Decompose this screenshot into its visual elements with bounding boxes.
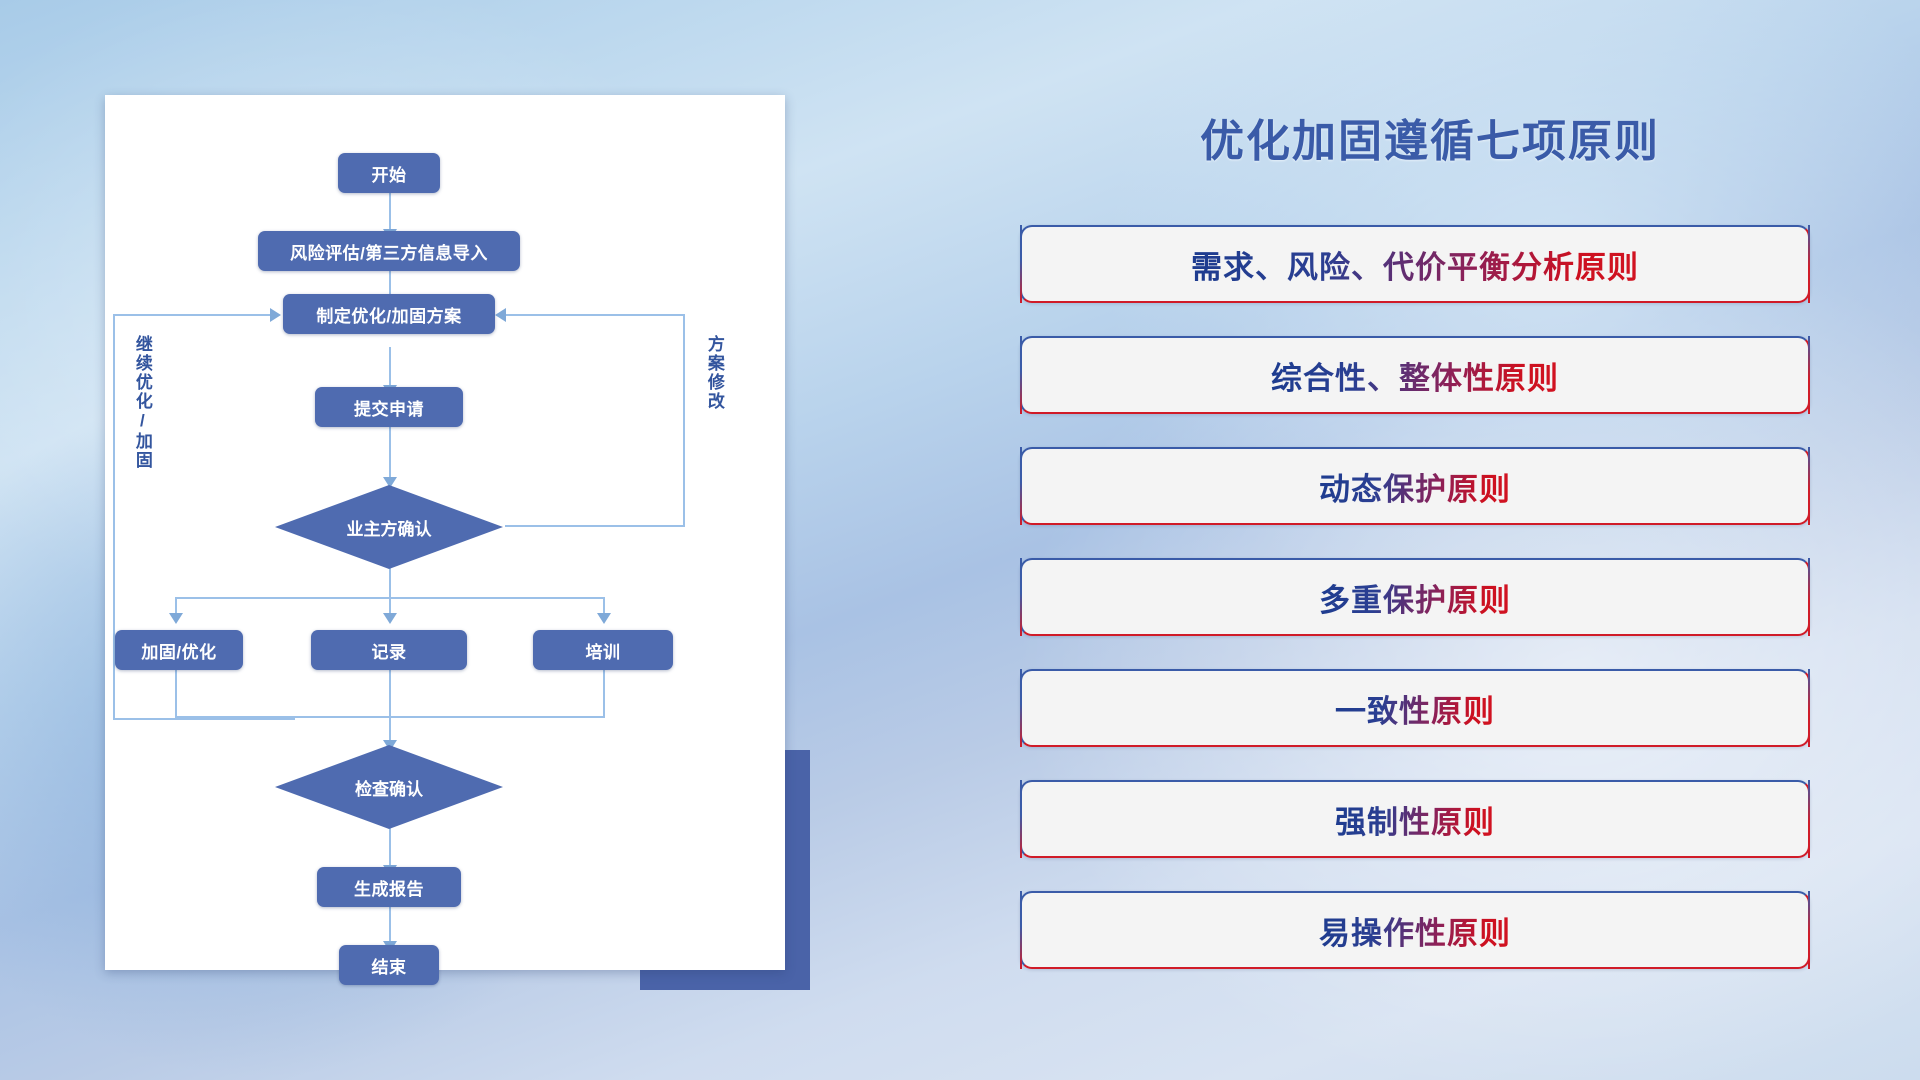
flow-node-owner-confirm[interactable]: 业主方确认 <box>275 485 503 569</box>
principle-card-1[interactable]: 需求、风险、代价平衡分析原则 <box>1020 225 1810 303</box>
connector-training-down <box>603 670 605 718</box>
connector-owner-down <box>389 567 391 597</box>
connector-reinforce-down <box>175 670 177 718</box>
arrow-split-to-record <box>383 613 397 624</box>
flowchart-card: 继续优化/加固 方案修改 <box>105 95 785 970</box>
flow-node-record[interactable]: 记录 <box>311 630 467 670</box>
page-title: 优化加固遵循七项原则 <box>1020 105 1840 169</box>
principle-label: 需求、风险、代价平衡分析原则 <box>1191 242 1639 287</box>
flow-node-reinforce-optimize[interactable]: 加固/优化 <box>115 630 243 670</box>
arrow-right-loop-into-plan <box>495 308 506 322</box>
principle-card-7[interactable]: 易操作性原则 <box>1020 891 1810 969</box>
edge-label-continue-optimize: 继续优化/加固 <box>133 335 151 515</box>
arrow-left-loop-into-plan <box>270 308 281 322</box>
flow-node-check-confirm[interactable]: 检查确认 <box>275 745 503 829</box>
connector-record-down <box>389 670 391 746</box>
principle-card-4[interactable]: 多重保护原则 <box>1020 558 1810 636</box>
principle-label: 动态保护原则 <box>1319 464 1511 509</box>
connector-right-loop-up <box>683 314 685 527</box>
flow-node-submit-application[interactable]: 提交申请 <box>315 387 463 427</box>
flow-node-make-plan[interactable]: 制定优化/加固方案 <box>283 294 495 334</box>
flow-node-end[interactable]: 结束 <box>339 945 439 985</box>
arrow-split-to-training <box>597 613 611 624</box>
principle-card-3[interactable]: 动态保护原则 <box>1020 447 1810 525</box>
arrow-split-to-reinforce <box>169 613 183 624</box>
principle-label: 一致性原则 <box>1335 686 1495 731</box>
principle-label: 综合性、整体性原则 <box>1271 353 1559 398</box>
principle-label: 易操作性原则 <box>1319 908 1511 953</box>
principle-label: 强制性原则 <box>1335 797 1495 842</box>
connector-left-loop-to-plan <box>113 314 273 316</box>
connector-owner-right <box>505 525 685 527</box>
flow-node-start[interactable]: 开始 <box>338 153 440 193</box>
principle-card-6[interactable]: 强制性原则 <box>1020 780 1810 858</box>
connector-left-loop-bottom <box>113 718 295 720</box>
edge-label-plan-revision: 方案修改 <box>705 335 723 475</box>
flow-node-training[interactable]: 培训 <box>533 630 673 670</box>
principle-card-2[interactable]: 综合性、整体性原则 <box>1020 336 1810 414</box>
flow-node-risk-assessment[interactable]: 风险评估/第三方信息导入 <box>258 231 520 271</box>
principle-card-5[interactable]: 一致性原则 <box>1020 669 1810 747</box>
principle-label: 多重保护原则 <box>1319 575 1511 620</box>
flowchart-canvas: 继续优化/加固 方案修改 <box>105 95 785 970</box>
connector-right-loop-to-plan <box>503 314 685 316</box>
principles-list: 需求、风险、代价平衡分析原则 综合性、整体性原则 动态保护原则 多重保护原则 一… <box>1020 225 1840 1002</box>
flow-node-generate-report[interactable]: 生成报告 <box>317 867 461 907</box>
connector-submit-to-owner <box>389 425 391 483</box>
principles-panel: 优化加固遵循七项原则 需求、风险、代价平衡分析原则 综合性、整体性原则 动态保护… <box>1020 95 1840 995</box>
slide-canvas: 继续优化/加固 方案修改 <box>0 0 1920 1080</box>
